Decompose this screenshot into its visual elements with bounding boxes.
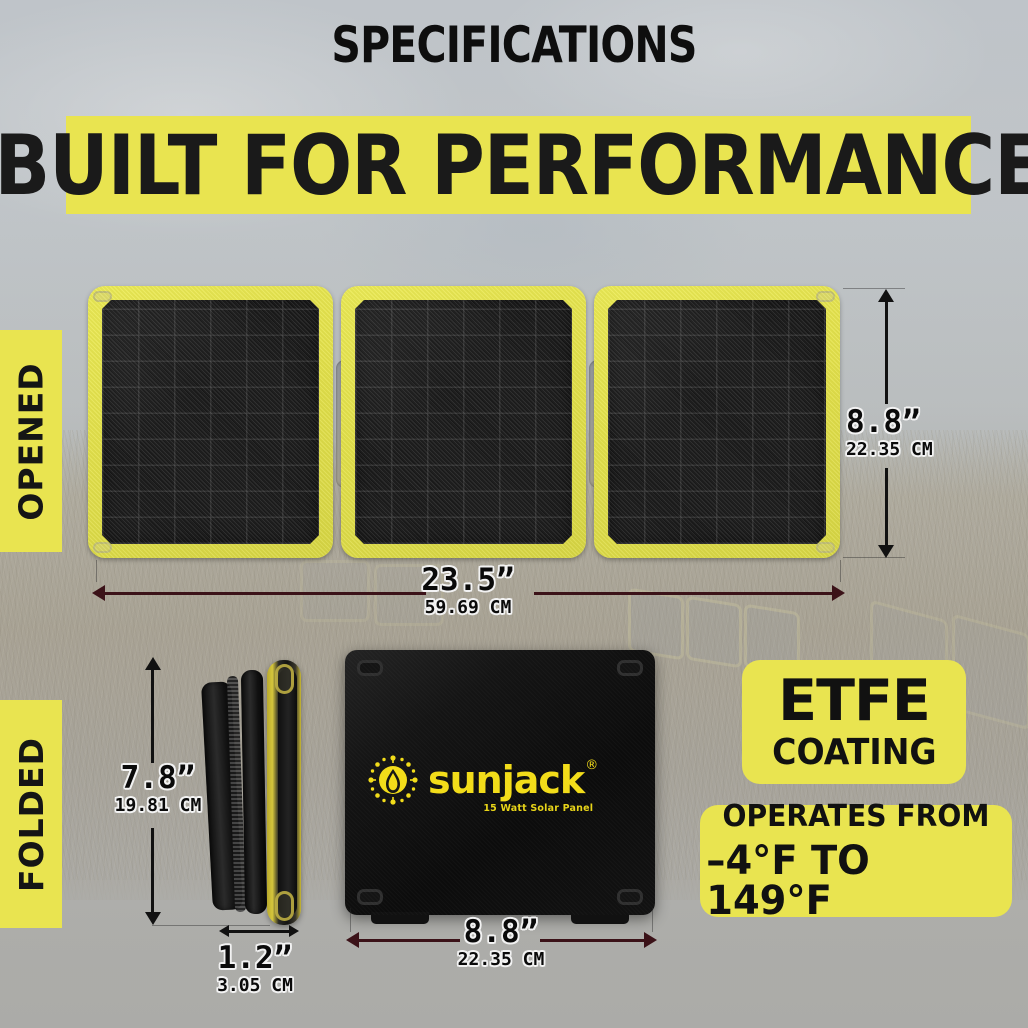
dim-line-case-right [540,939,648,942]
brand-wordmark: sunjack ® 15 Watt Solar Panel [428,761,584,799]
folded-panel-case: sunjack ® 15 Watt Solar Panel [345,650,655,915]
sun-burst-icon [367,754,419,806]
badge-operating-temperature: OPERATES FROM –4°F TO 149°F [700,805,1012,917]
case-corner-tab-br [617,889,643,905]
dim-arrowhead-down-folded [145,912,161,925]
case-foot-left [371,912,429,924]
dim-folded-width-cm: 22.35 CM [436,951,566,970]
dim-opened-height: 8.8” 22.35 CM [846,406,996,460]
product-tagline: 15 Watt Solar Panel [483,804,593,814]
dim-folded-depth-cm: 3.05 CM [185,977,325,996]
dim-opened-width: 23.5” 59.69 CM [398,564,538,618]
dim-ext-top-right [843,288,905,289]
dim-ext-bottom-right [843,557,905,558]
dim-line-height-lower [885,468,888,546]
badge-temp-line2: –4°F TO 149°F [706,841,1006,921]
dim-opened-height-cm: 22.35 CM [846,441,996,460]
dim-opened-height-inches: 8.8” [846,406,996,438]
dim-ext-case-right [652,908,653,932]
dim-arrowhead-up-folded [145,657,161,670]
badge-temp-line1: OPERATES FROM [723,802,990,832]
dim-opened-width-cm: 59.69 CM [398,599,538,618]
badge-etfe-line1: ETFE [778,673,930,730]
dim-ext-right-bottom [840,560,841,582]
headline-text: BUILT FOR PERFORMANCE [0,117,1028,214]
case-corner-tab-bl [357,889,383,905]
solar-cell-grid-1 [102,300,319,544]
dim-ext-case-left [350,908,351,932]
dim-line-depth [229,930,289,933]
dim-line-folded-height-upper [151,668,154,763]
dim-arrowhead-right-case [644,932,657,948]
sunjack-logo: sunjack ® 15 Watt Solar Panel [367,754,584,806]
case-corner-tab-tr [617,660,643,676]
case-corner-tab-tl [357,660,383,676]
solar-cell-grid-2 [355,300,572,544]
opened-solar-panel [88,286,840,558]
dim-line-width-left [104,592,426,595]
dim-arrowhead-right-width [832,585,845,601]
dim-folded-height: 7.8” 19.81 CM [88,762,228,816]
dim-folded-width-inches: 8.8” [436,916,566,948]
panel-segment-2 [341,286,586,558]
dim-folded-depth: 1.2” 3.05 CM [185,942,325,996]
dim-arrowhead-left-depth [219,925,229,937]
panel-segment-3 [594,286,840,558]
folded-layer-inner [241,670,267,914]
page-eyebrow-title: SPECIFICATIONS [93,16,936,74]
dim-ext-left-bottom [96,560,97,582]
badge-etfe-coating: ETFE COATING [742,660,966,784]
dim-line-width-right [534,592,836,595]
dim-line-folded-height-lower [151,828,154,914]
dim-folded-depth-inches: 1.2” [185,942,325,974]
registered-mark: ® [585,759,597,772]
section-tab-folded-label: FOLDED [12,737,51,892]
badge-etfe-line2: COATING [772,735,936,771]
infographic-canvas: SPECIFICATIONS BUILT FOR PERFORMANCE OPE… [0,0,1028,1028]
folded-spine [267,660,301,925]
dim-arrowhead-right-depth [289,925,299,937]
dim-arrowhead-down-right [878,545,894,558]
dim-opened-width-inches: 23.5” [398,564,538,596]
folded-loop-bottom [275,891,294,921]
section-tab-folded: FOLDED [0,700,62,928]
panel-segment-1 [88,286,333,558]
dim-folded-height-inches: 7.8” [88,762,228,794]
solar-cell-grid-3 [608,300,826,544]
brand-name: sunjack [428,758,584,802]
dim-folded-width: 8.8” 22.35 CM [436,916,566,970]
case-foot-right [571,912,629,924]
folded-loop-top [275,664,294,694]
section-tab-opened-label: OPENED [12,362,51,520]
dim-ext-folded-bottom [152,925,270,926]
headline-banner: BUILT FOR PERFORMANCE [66,116,971,214]
dim-folded-height-cm: 19.81 CM [88,797,228,816]
dim-line-height-upper [885,300,888,404]
section-tab-opened: OPENED [0,330,62,552]
